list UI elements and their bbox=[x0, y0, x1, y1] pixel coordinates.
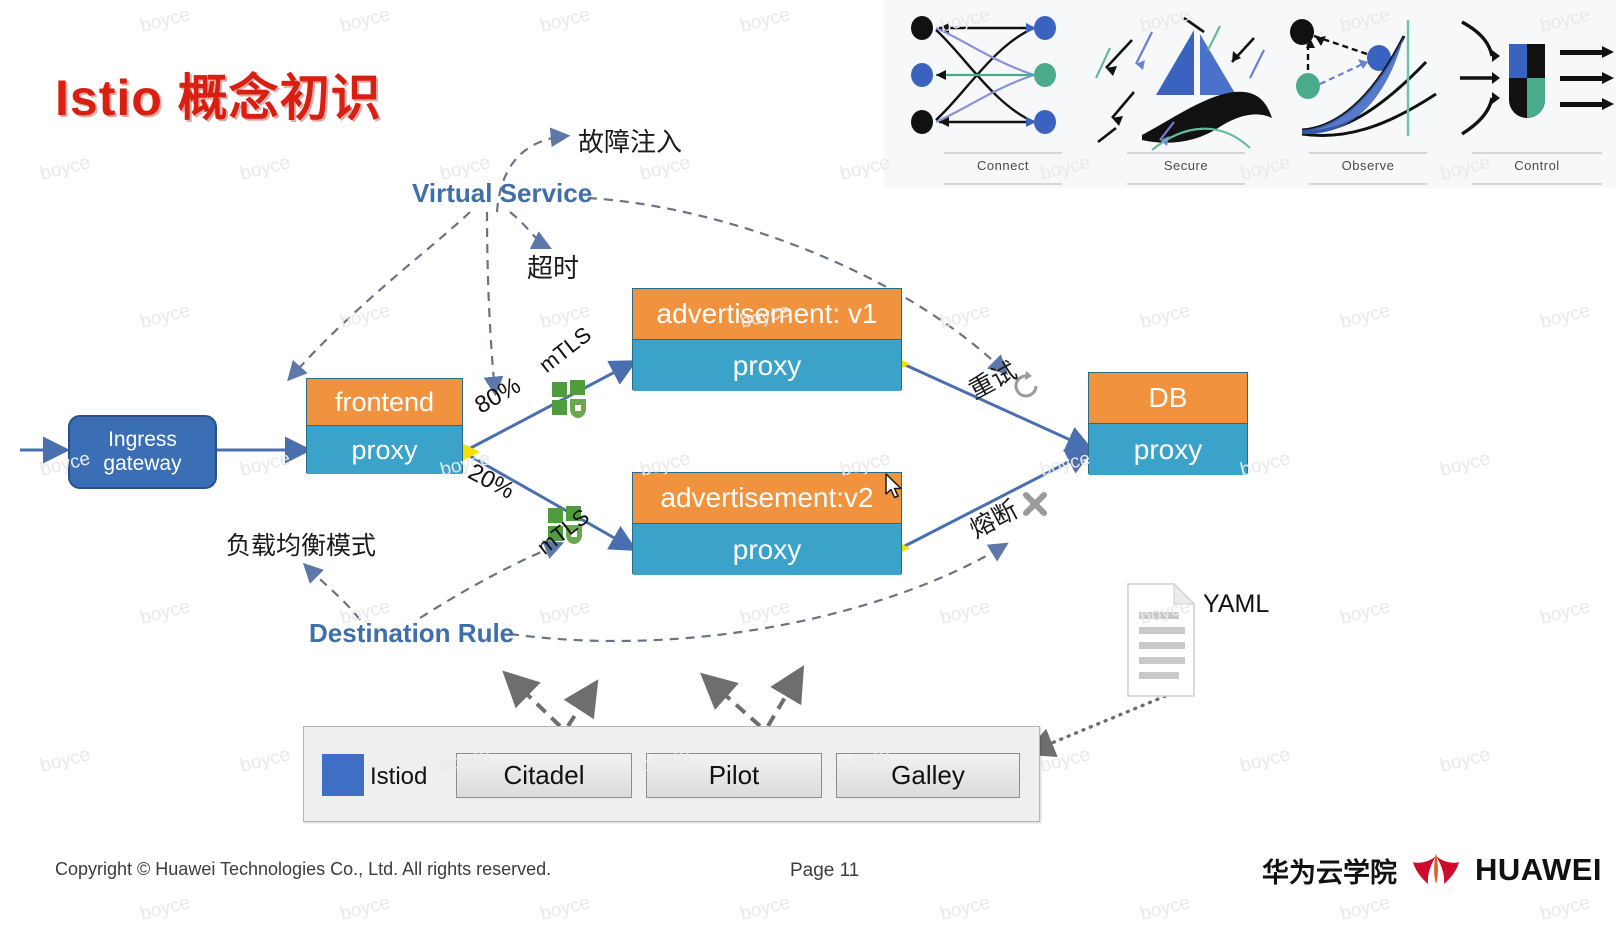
pillar-label-control: Control bbox=[1472, 158, 1602, 173]
node-advertisement-v2-proxy: proxy bbox=[633, 523, 901, 575]
node-db[interactable]: DB proxy bbox=[1088, 372, 1248, 474]
pillar-control-graphic bbox=[1460, 22, 1614, 134]
pillar-label-observe: Observe bbox=[1309, 158, 1427, 173]
node-frontend[interactable]: frontend proxy bbox=[306, 378, 463, 473]
label-timeout: 超时 bbox=[527, 248, 579, 285]
component-galley-button[interactable]: Galley bbox=[836, 753, 1020, 798]
pillar-secure-graphic bbox=[1096, 18, 1272, 150]
control-plane-panel: Istiod Citadel Pilot Galley bbox=[303, 726, 1040, 822]
label-yaml: YAML bbox=[1203, 590, 1269, 619]
istio-pillars-banner: Connect Secure Observe Control bbox=[884, 0, 1616, 188]
brand-en-label: HUAWEI bbox=[1475, 852, 1602, 888]
node-advertisement-v2[interactable]: advertisement:v2 proxy bbox=[632, 472, 902, 574]
node-frontend-name: frontend bbox=[307, 379, 462, 425]
footer-copyright: Copyright © Huawei Technologies Co., Ltd… bbox=[55, 859, 551, 880]
page-title: Istio 概念初识 bbox=[55, 58, 382, 130]
ingress-line1: Ingress bbox=[108, 428, 177, 452]
node-db-proxy: proxy bbox=[1089, 423, 1247, 475]
node-advertisement-v1[interactable]: advertisement: v1 proxy bbox=[632, 288, 902, 390]
footer-page-number: Page 11 bbox=[790, 860, 859, 882]
component-pilot-button[interactable]: Pilot bbox=[646, 753, 822, 798]
mouse-cursor-icon bbox=[884, 472, 906, 502]
brand-cn-label: 华为云学院 bbox=[1262, 851, 1397, 890]
label-load-balancing-mode: 负载均衡模式 bbox=[226, 526, 376, 562]
node-frontend-proxy: proxy bbox=[307, 425, 462, 474]
istiod-label: Istiod bbox=[370, 763, 427, 791]
mtls-shield-icon bbox=[552, 380, 586, 418]
circuit-break-x-icon bbox=[1026, 495, 1044, 513]
label-fault-injection: 故障注入 bbox=[578, 122, 682, 159]
pillar-observe-graphic bbox=[1290, 19, 1436, 136]
istiod-logo-box bbox=[322, 754, 364, 796]
node-advertisement-v1-proxy: proxy bbox=[633, 339, 901, 391]
yaml-doc-icon bbox=[1128, 584, 1194, 696]
node-ingress-gateway[interactable]: Ingress gateway bbox=[68, 415, 217, 489]
label-virtual-service: Virtual Service bbox=[412, 178, 592, 209]
node-advertisement-v2-name: advertisement:v2 bbox=[633, 473, 901, 523]
pillar-label-secure: Secure bbox=[1127, 158, 1245, 173]
huawei-flower-icon bbox=[1407, 850, 1465, 890]
yaml-to-istiod-edge bbox=[1030, 690, 1180, 752]
istiod-push-arrows bbox=[508, 672, 800, 726]
node-db-name: DB bbox=[1089, 373, 1247, 423]
ingress-line2: gateway bbox=[103, 452, 181, 476]
pillar-label-connect: Connect bbox=[944, 158, 1062, 173]
footer-brand: 华为云学院 HUAWEI bbox=[1262, 850, 1602, 890]
pillar-connect-graphic bbox=[911, 16, 1056, 134]
slide-canvas: Istio 概念初识 bbox=[0, 0, 1616, 920]
node-advertisement-v1-name: advertisement: v1 bbox=[633, 289, 901, 339]
label-destination-rule: Destination Rule bbox=[309, 618, 514, 649]
component-citadel-button[interactable]: Citadel bbox=[456, 753, 632, 798]
